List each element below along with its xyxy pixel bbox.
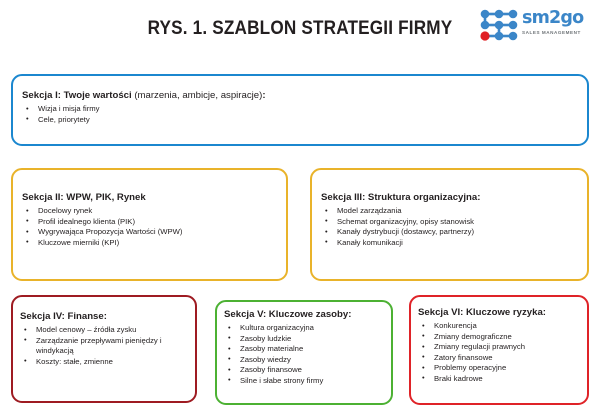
list-item: Kanały dystrybucji (dostawcy, partnerzy) <box>321 227 587 238</box>
list-item: Zasoby ludzkie <box>224 334 391 345</box>
section-box-sekcja-3: Sekcja III: Struktura organizacyjna: Mod… <box>310 168 589 281</box>
list-item: Kluczowe mierniki (KPI) <box>22 238 286 249</box>
section-title: Sekcja VI: Kluczowe ryzyka: <box>418 307 587 319</box>
list-item: Zasoby finansowe <box>224 365 391 376</box>
section-title-bold: Sekcja II: WPW, PIK, Rynek <box>22 192 146 203</box>
section-box-sekcja-6: Sekcja VI: Kluczowe ryzyka: Konkurencja … <box>409 295 589 405</box>
list-item: Model cenowy – źródła zysku <box>20 325 195 336</box>
section-bullet-list: Kultura organizacyjna Zasoby ludzkie Zas… <box>224 323 391 387</box>
section-title-bold: Sekcja I: Twoje wartości <box>22 90 132 101</box>
list-item: Schemat organizacyjny, opisy stanowisk <box>321 217 587 228</box>
section-title-bold: Sekcja III: Struktura organizacyjna: <box>321 192 480 203</box>
logo-tagline: SALES MANAGEMENT <box>522 29 592 36</box>
logo-accent-dot-icon <box>480 31 489 40</box>
list-item: Model zarządzania <box>321 206 587 217</box>
list-item: Zasoby wiedzy <box>224 355 391 366</box>
section-title-bold: Sekcja VI: Kluczowe ryzyka: <box>418 307 546 318</box>
section-bullet-list: Model cenowy – źródła zysku Zarządzanie … <box>20 325 195 367</box>
list-item: Silne i słabe strony firmy <box>224 376 391 387</box>
list-item: Zasoby materialne <box>224 344 391 355</box>
section-box-sekcja-5: Sekcja V: Kluczowe zasoby: Kultura organ… <box>215 300 393 405</box>
section-box-sekcja-4: Sekcja IV: Finanse: Model cenowy – źródł… <box>11 295 197 403</box>
section-title: Sekcja I: Twoje wartości (marzenia, ambi… <box>22 90 587 102</box>
section-bullet-list: Docelowy rynek Profil idealnego klienta … <box>22 206 286 248</box>
list-item: Wizja i misja firmy <box>22 104 587 115</box>
list-item: Zatory finansowe <box>418 353 587 364</box>
list-item: Konkurencja <box>418 321 587 332</box>
list-item: Kultura organizacyjna <box>224 323 391 334</box>
list-item: Profil idealnego klienta (PIK) <box>22 217 286 228</box>
header: RYS. 1. SZABLON STRATEGII FIRMY <box>0 0 600 62</box>
section-title: Sekcja II: WPW, PIK, Rynek <box>22 192 286 204</box>
list-item: Zmiany demograficzne <box>418 332 587 343</box>
section-title-light: (marzenia, ambicje, aspiracje) <box>132 90 263 101</box>
section-title: Sekcja III: Struktura organizacyjna: <box>321 192 587 204</box>
section-bullet-list: Wizja i misja firmy Cele, priorytety <box>22 104 587 125</box>
list-item: Cele, priorytety <box>22 115 587 126</box>
logo-text: sm2go SALES MANAGEMENT <box>522 9 592 36</box>
logo-dot-grid-icon <box>479 9 519 41</box>
section-bullet-list: Konkurencja Zmiany demograficzne Zmiany … <box>418 321 587 385</box>
section-title: Sekcja V: Kluczowe zasoby: <box>224 309 391 321</box>
section-title-bold: Sekcja V: Kluczowe zasoby: <box>224 309 351 320</box>
section-bullet-list: Model zarządzania Schemat organizacyjny,… <box>321 206 587 248</box>
logo-wordmark: sm2go <box>522 9 592 28</box>
section-box-sekcja-2: Sekcja II: WPW, PIK, Rynek Docelowy ryne… <box>11 168 288 281</box>
sm2go-logo: sm2go SALES MANAGEMENT <box>479 8 591 42</box>
section-title: Sekcja IV: Finanse: <box>20 311 195 323</box>
section-title-bold: Sekcja IV: Finanse: <box>20 311 107 322</box>
list-item: Kanały komunikacji <box>321 238 587 249</box>
list-item: Docelowy rynek <box>22 206 286 217</box>
list-item: Zmiany regulacji prawnych <box>418 342 587 353</box>
list-item: Braki kadrowe <box>418 374 587 385</box>
list-item: Problemy operacyjne <box>418 363 587 374</box>
list-item: Koszty: stałe, zmienne <box>20 357 195 368</box>
section-box-sekcja-1: Sekcja I: Twoje wartości (marzenia, ambi… <box>11 74 589 146</box>
list-item: Zarządzanie przepływami pieniędzy i wind… <box>20 336 195 357</box>
section-title-tail: : <box>262 90 265 101</box>
list-item: Wygrywająca Propozycja Wartości (WPW) <box>22 227 286 238</box>
